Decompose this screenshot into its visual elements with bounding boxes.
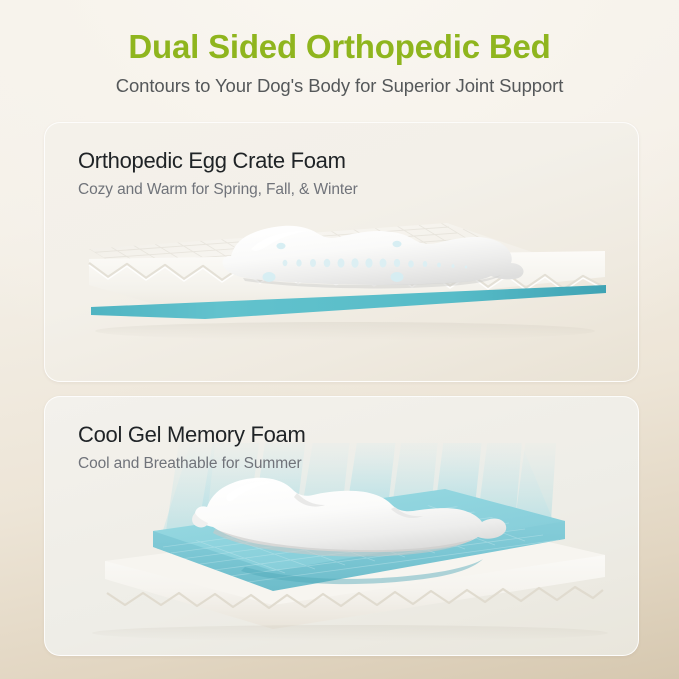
feature-card-cool-gel-memory-foam: Cool Gel Memory Foam Cool and Breathable… (44, 396, 639, 656)
card-2-text-block: Cool Gel Memory Foam Cool and Breathable… (78, 423, 306, 473)
egg-crate-foam-illustration (45, 181, 638, 381)
card-1-title: Orthopedic Egg Crate Foam (78, 149, 358, 173)
product-feature-infographic: Dual Sided Orthopedic Bed Contours to Yo… (0, 0, 679, 679)
cool-gel-foam-illustration (45, 443, 638, 655)
page-title: Dual Sided Orthopedic Bed (0, 28, 679, 66)
drop-shadow (95, 322, 595, 340)
card-2-subtitle: Cool and Breathable for Summer (78, 455, 306, 473)
cool-gel-foam-svg (45, 443, 638, 655)
card-1-text-block: Orthopedic Egg Crate Foam Cozy and Warm … (78, 149, 358, 199)
page-subtitle: Contours to Your Dog's Body for Superior… (0, 75, 679, 97)
egg-crate-foam-svg (45, 181, 638, 381)
card-1-subtitle: Cozy and Warm for Spring, Fall, & Winter (78, 181, 358, 199)
header: Dual Sided Orthopedic Bed Contours to Yo… (0, 0, 679, 97)
card-2-title: Cool Gel Memory Foam (78, 423, 306, 447)
slab-drop-shadow (92, 625, 608, 641)
feature-card-orthopedic-egg-crate-foam: Orthopedic Egg Crate Foam Cozy and Warm … (44, 122, 639, 382)
